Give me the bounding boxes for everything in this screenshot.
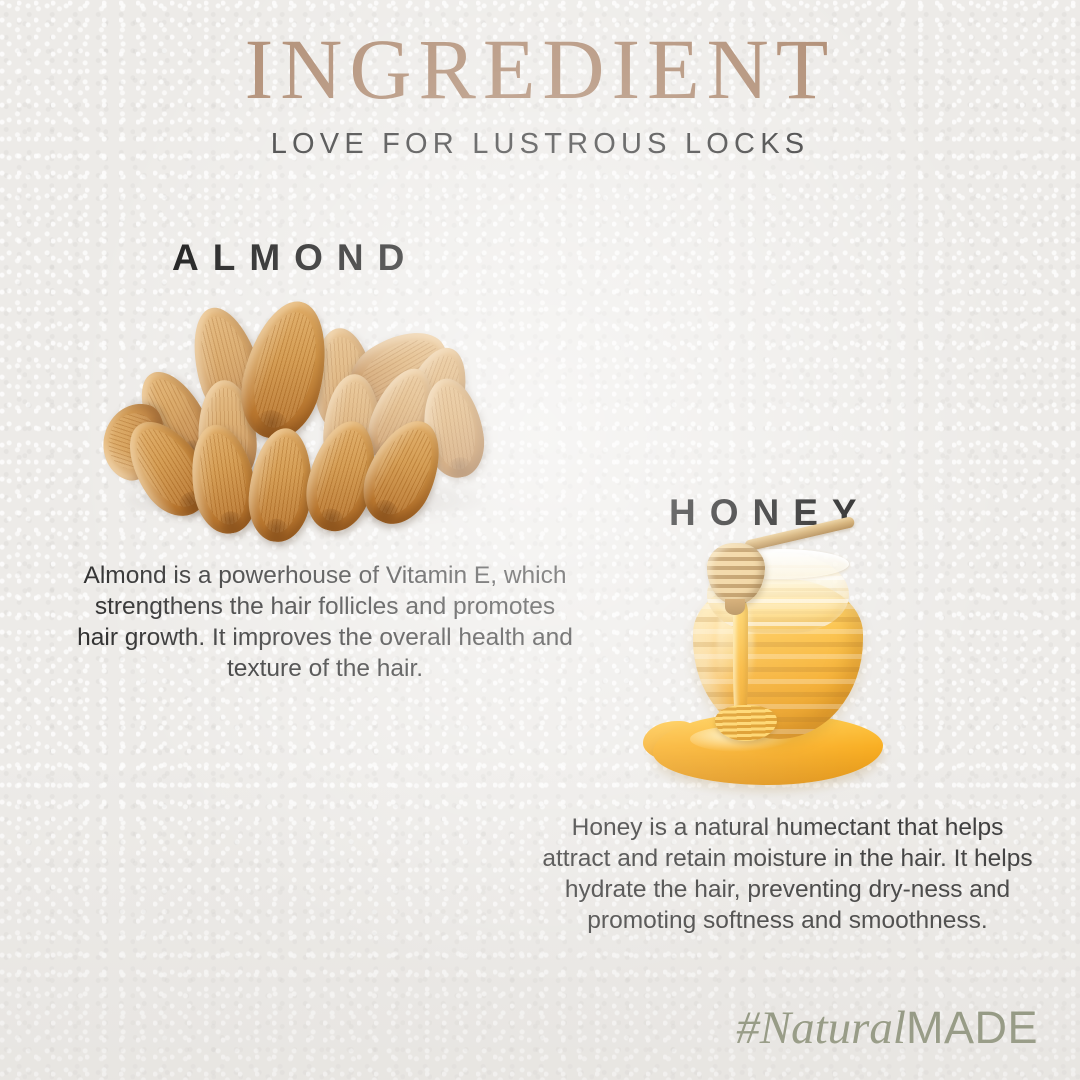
brand-script-part: #Natural [736, 1002, 906, 1054]
brand-block-part: MADE [906, 1002, 1038, 1053]
page-subtitle: LOVE FOR LUSTROUS LOCKS [0, 128, 1080, 161]
section-heading-almond: ALMOND [172, 237, 418, 279]
brand-hashtag: #NaturalMADE [736, 1005, 1038, 1052]
section-body-honey: Honey is a natural humectant that helps … [535, 812, 1040, 936]
honey-dipper-tip [725, 599, 745, 615]
almond-pile-image [88, 300, 528, 550]
poster-header: INGREDIENT LOVE FOR LUSTROUS LOCKS [0, 26, 1080, 161]
section-body-almond: Almond is a powerhouse of Vitamin E, whi… [75, 560, 575, 684]
ingredient-poster: INGREDIENT LOVE FOR LUSTROUS LOCKS ALMON… [0, 0, 1080, 1080]
honey-jar-image [645, 535, 945, 810]
page-title: INGREDIENT [0, 26, 1080, 112]
